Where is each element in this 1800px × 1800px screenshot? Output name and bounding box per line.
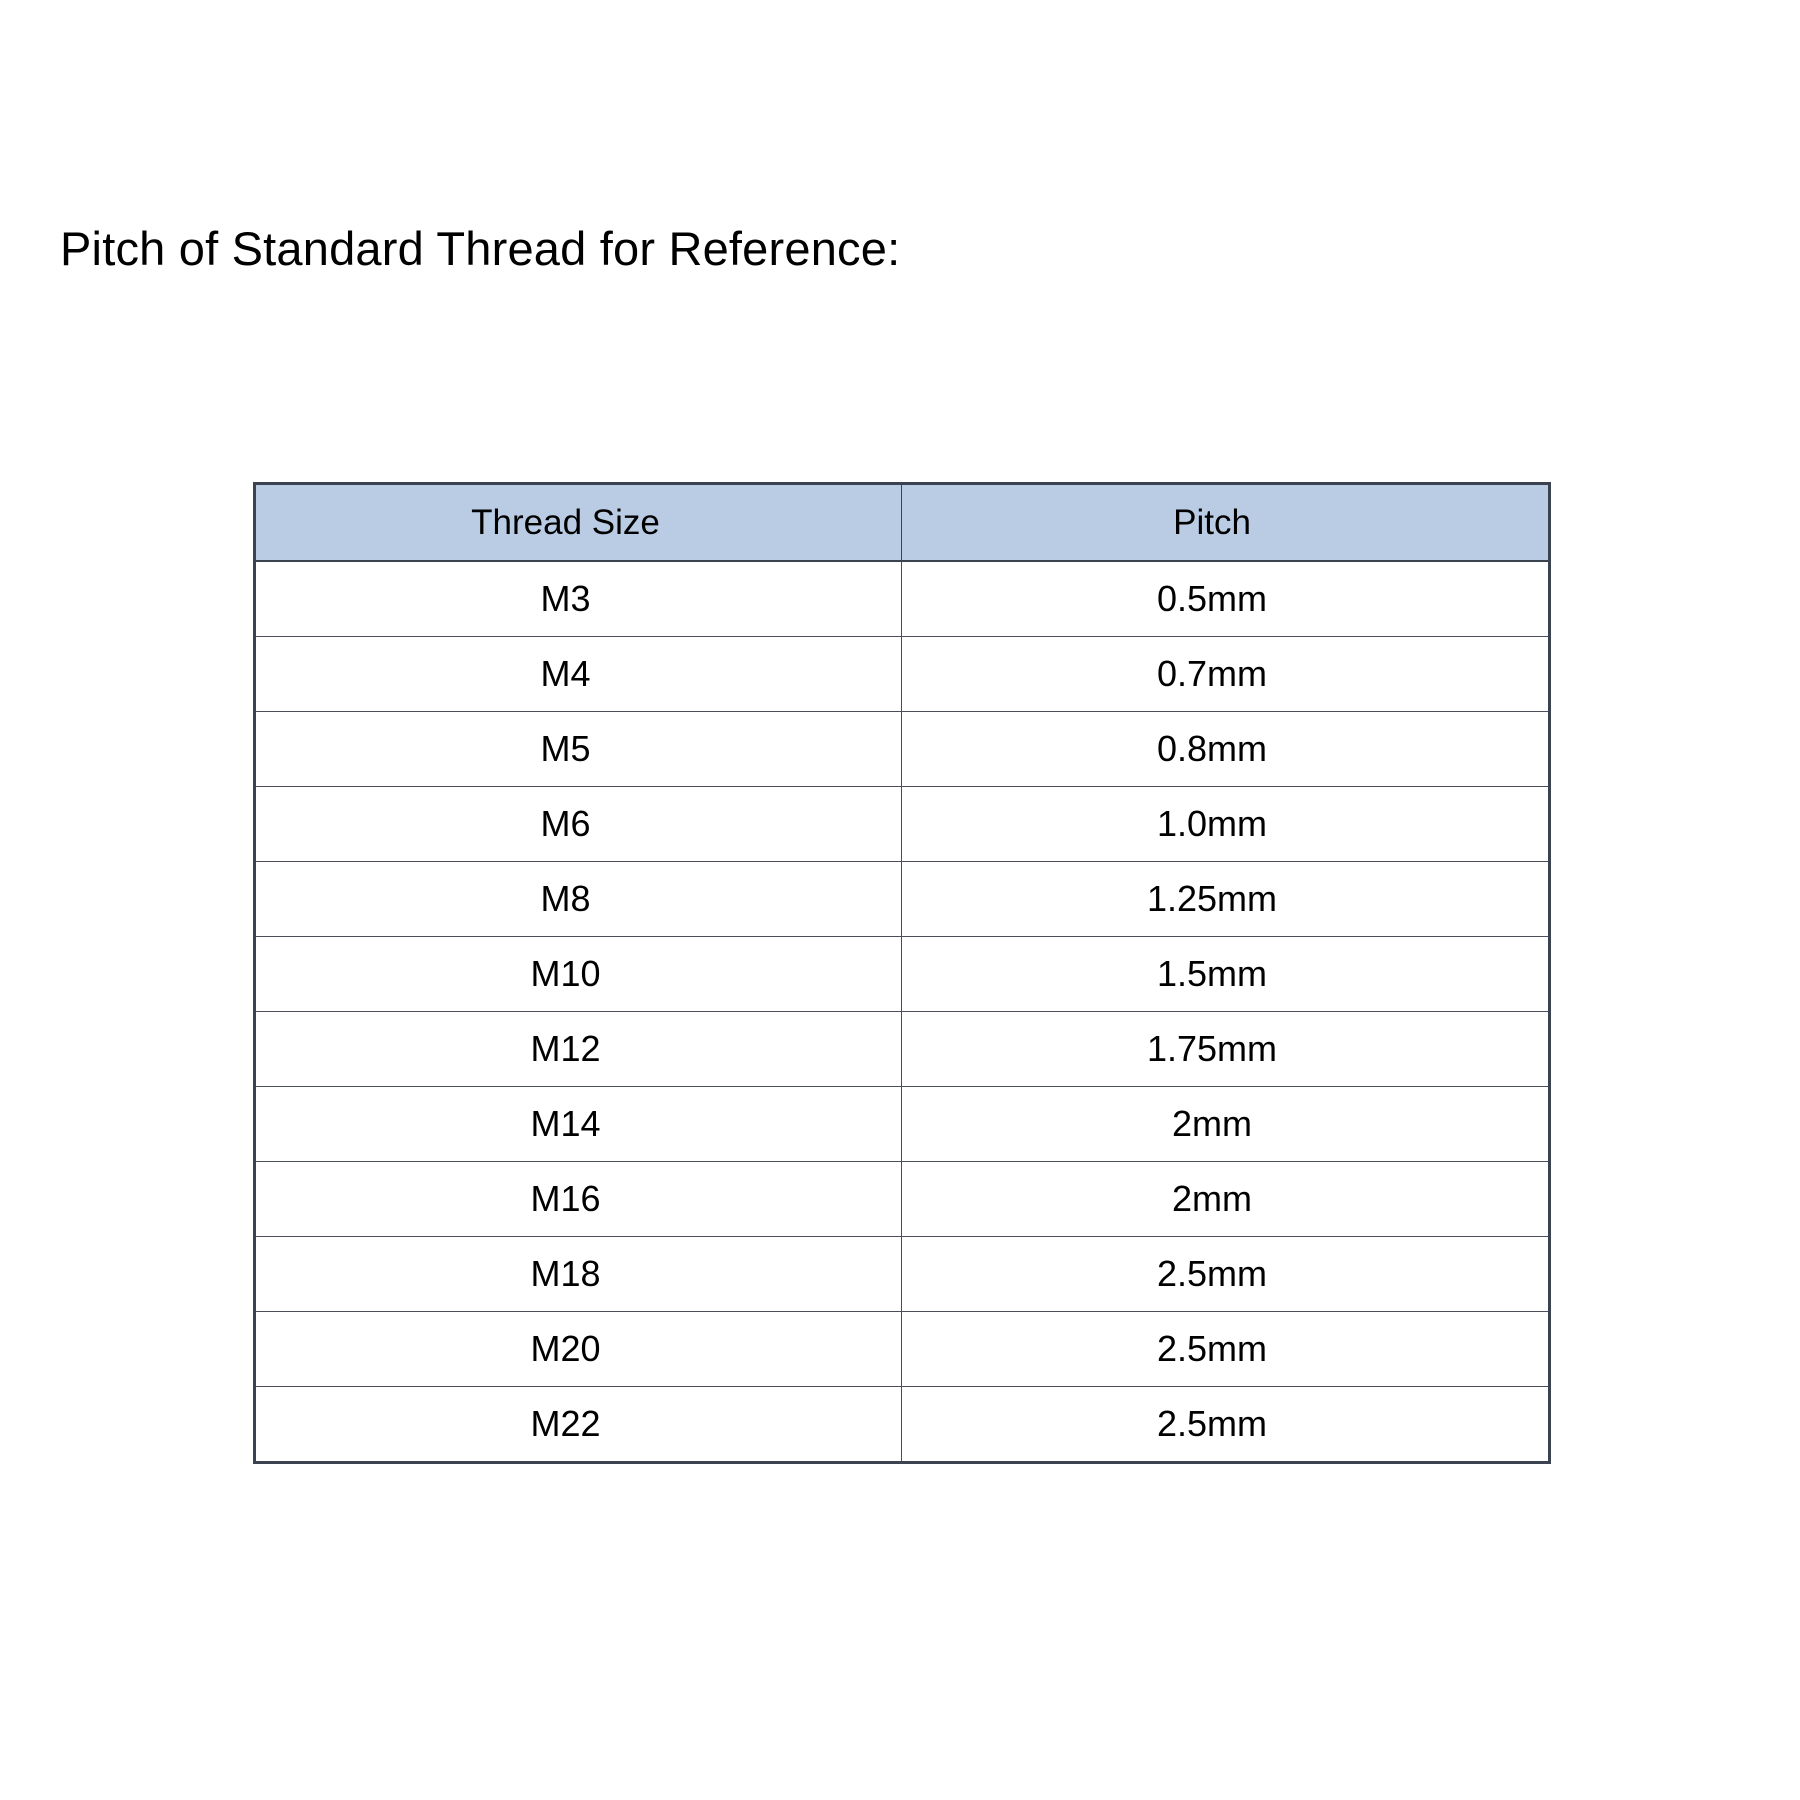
cell-thread-size: M8 — [255, 862, 902, 937]
thread-pitch-reference-table: Thread Size Pitch M30.5mmM40.7mmM50.8mmM… — [253, 482, 1551, 1464]
cell-thread-size: M3 — [255, 561, 902, 637]
cell-thread-size: M10 — [255, 937, 902, 1012]
cell-thread-size: M14 — [255, 1087, 902, 1162]
cell-pitch: 1.25mm — [902, 862, 1550, 937]
column-header-thread-size: Thread Size — [255, 484, 902, 562]
cell-pitch: 1.75mm — [902, 1012, 1550, 1087]
cell-pitch-value: 1.0mm — [902, 806, 1548, 842]
table-body: M30.5mmM40.7mmM50.8mmM61.0mmM81.25mmM101… — [255, 561, 1550, 1463]
cell-thread-size-value: M14 — [256, 1106, 901, 1142]
cell-pitch-value: 1.75mm — [902, 1031, 1548, 1067]
cell-pitch-value: 2.5mm — [902, 1331, 1548, 1367]
cell-pitch-value: 2.5mm — [902, 1256, 1548, 1292]
cell-pitch: 1.5mm — [902, 937, 1550, 1012]
table-row: M202.5mm — [255, 1312, 1550, 1387]
table-row: M81.25mm — [255, 862, 1550, 937]
cell-thread-size-value: M6 — [256, 806, 901, 842]
cell-pitch-value: 2mm — [902, 1181, 1548, 1217]
table-row: M222.5mm — [255, 1387, 1550, 1463]
table-row: M182.5mm — [255, 1237, 1550, 1312]
cell-thread-size: M6 — [255, 787, 902, 862]
column-header-pitch-label: Pitch — [902, 505, 1548, 540]
cell-pitch-value: 1.5mm — [902, 956, 1548, 992]
cell-thread-size-value: M3 — [256, 581, 901, 617]
cell-thread-size: M16 — [255, 1162, 902, 1237]
cell-thread-size-value: M16 — [256, 1181, 901, 1217]
cell-thread-size-value: M22 — [256, 1406, 901, 1442]
cell-pitch: 2mm — [902, 1087, 1550, 1162]
cell-pitch: 2.5mm — [902, 1312, 1550, 1387]
cell-thread-size-value: M8 — [256, 881, 901, 917]
cell-pitch: 2.5mm — [902, 1387, 1550, 1463]
page-root: Pitch of Standard Thread for Reference: … — [0, 0, 1800, 1800]
cell-pitch-value: 2.5mm — [902, 1406, 1548, 1442]
cell-thread-size: M12 — [255, 1012, 902, 1087]
table-row: M30.5mm — [255, 561, 1550, 637]
cell-pitch: 2mm — [902, 1162, 1550, 1237]
cell-thread-size-value: M4 — [256, 656, 901, 692]
cell-thread-size-value: M5 — [256, 731, 901, 767]
table-header-row: Thread Size Pitch — [255, 484, 1550, 562]
table-header: Thread Size Pitch — [255, 484, 1550, 562]
cell-thread-size-value: M18 — [256, 1256, 901, 1292]
column-header-pitch: Pitch — [902, 484, 1550, 562]
table-row: M61.0mm — [255, 787, 1550, 862]
thread-pitch-table-container: Thread Size Pitch M30.5mmM40.7mmM50.8mmM… — [253, 482, 1548, 1464]
cell-pitch: 0.5mm — [902, 561, 1550, 637]
table-row: M162mm — [255, 1162, 1550, 1237]
cell-thread-size: M20 — [255, 1312, 902, 1387]
cell-thread-size-value: M10 — [256, 956, 901, 992]
table-row: M40.7mm — [255, 637, 1550, 712]
table-row: M121.75mm — [255, 1012, 1550, 1087]
cell-pitch: 0.8mm — [902, 712, 1550, 787]
cell-pitch-value: 1.25mm — [902, 881, 1548, 917]
cell-pitch-value: 0.8mm — [902, 731, 1548, 767]
cell-thread-size: M18 — [255, 1237, 902, 1312]
cell-pitch: 2.5mm — [902, 1237, 1550, 1312]
cell-pitch-value: 2mm — [902, 1106, 1548, 1142]
cell-thread-size-value: M20 — [256, 1331, 901, 1367]
cell-thread-size: M4 — [255, 637, 902, 712]
table-row: M101.5mm — [255, 937, 1550, 1012]
cell-thread-size: M22 — [255, 1387, 902, 1463]
column-header-thread-size-label: Thread Size — [256, 505, 901, 540]
cell-thread-size: M5 — [255, 712, 902, 787]
cell-thread-size-value: M12 — [256, 1031, 901, 1067]
cell-pitch-value: 0.5mm — [902, 581, 1548, 617]
table-row: M50.8mm — [255, 712, 1550, 787]
table-row: M142mm — [255, 1087, 1550, 1162]
cell-pitch-value: 0.7mm — [902, 656, 1548, 692]
cell-pitch: 0.7mm — [902, 637, 1550, 712]
cell-pitch: 1.0mm — [902, 787, 1550, 862]
page-title: Pitch of Standard Thread for Reference: — [60, 220, 900, 278]
